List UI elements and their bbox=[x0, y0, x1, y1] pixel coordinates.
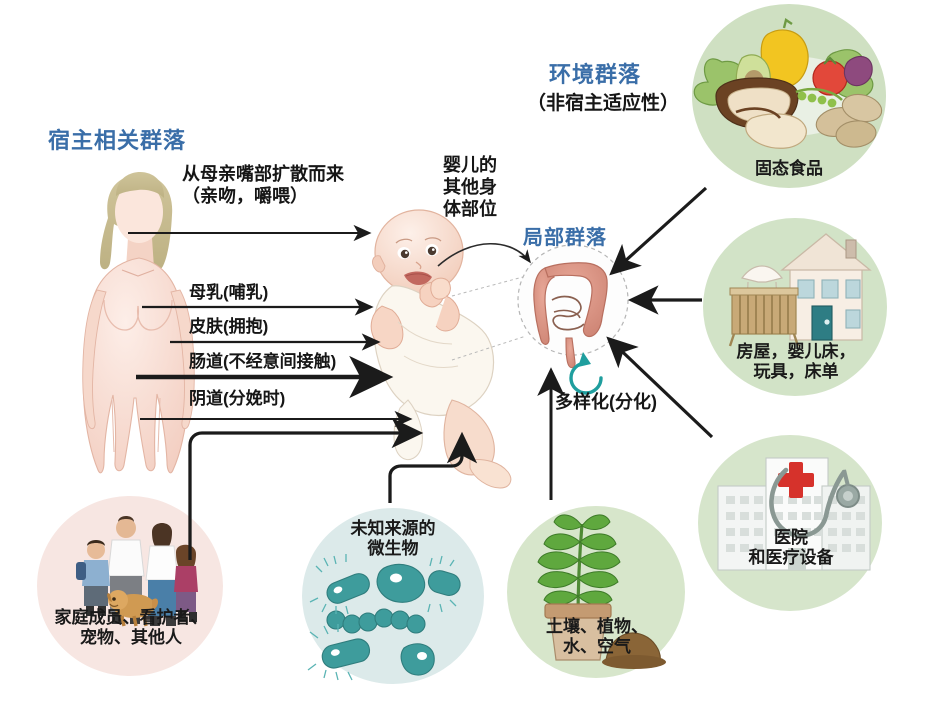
caption-hospital: 医院 和医疗设备 bbox=[706, 528, 876, 569]
caption-house-crib: 房屋，婴儿床， 玩具，床单 bbox=[714, 342, 878, 383]
label-breast-milk: 母乳(哺乳) bbox=[189, 283, 268, 304]
caption-family-members: 家庭成员、看护者、 宠物、其他人 bbox=[26, 608, 236, 649]
heading-local-community: 局部群落 bbox=[523, 226, 607, 250]
label-skin-contact: 皮肤(拥抱) bbox=[189, 317, 268, 338]
arrow-food-to-gut bbox=[613, 188, 706, 272]
microbiome-transmission-diagram: 宿主相关群落 环境群落 （非宿主适应性） 局部群落 从母亲嘴部扩散而来 （亲吻，… bbox=[0, 0, 926, 703]
caption-unknown-microbes: 未知来源的 微生物 bbox=[310, 519, 476, 560]
label-oral-spread: 从母亲嘴部扩散而来 （亲吻，嚼喂） bbox=[182, 164, 344, 208]
label-vaginal-birth: 阴道(分娩时) bbox=[189, 389, 285, 410]
heading-environmental-line1: 环境群落 bbox=[549, 62, 641, 89]
arrow-microbes-to-baby bbox=[390, 437, 462, 503]
label-baby-other-parts: 婴儿的 其他身 体部位 bbox=[443, 155, 497, 221]
label-diversification: 多样化(分化) bbox=[555, 392, 657, 414]
caption-soil-plants: 土壤、植物、 水、空气 bbox=[515, 617, 679, 658]
arrow-hospital-to-gut bbox=[610, 340, 712, 437]
caption-solid-food: 固态食品 bbox=[713, 159, 865, 179]
diversification-loop-icon bbox=[571, 352, 601, 393]
heading-host-associated: 宿主相关群落 bbox=[48, 128, 186, 155]
label-gut-contact: 肠道(不经意间接触) bbox=[189, 352, 336, 373]
heading-environmental-line2: （非宿主适应性） bbox=[527, 92, 679, 115]
